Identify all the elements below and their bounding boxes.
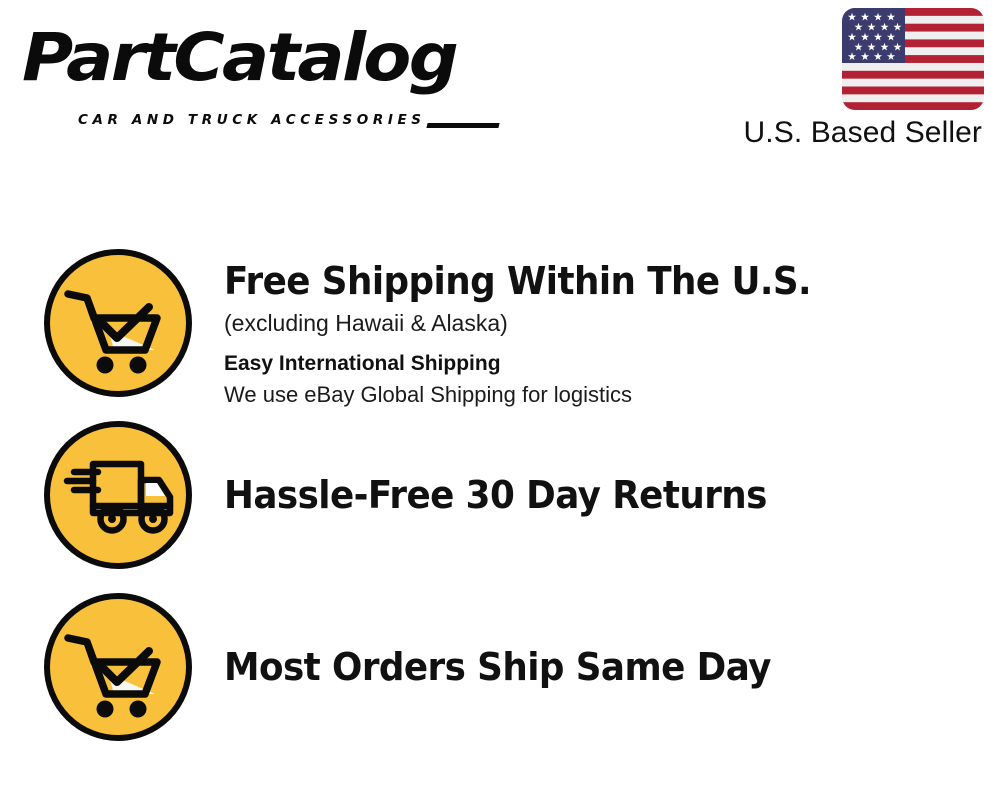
shopping-cart-check-icon (41, 590, 195, 744)
feature-row: Free Shipping Within The U.S. (excluding… (0, 246, 1000, 400)
brand-logo[interactable]: PartCatalog CAR AND TRUCK ACCESSORIES (22, 22, 492, 117)
page-header: PartCatalog CAR AND TRUCK ACCESSORIES (0, 0, 1000, 170)
brand-wordmark: PartCatalog (22, 22, 456, 94)
us-based-seller-label: U.S. Based Seller (716, 115, 984, 151)
feature-sub-light: We use eBay Global Shipping for logistic… (224, 380, 1000, 410)
feature-sub-strong: Easy International Shipping (224, 349, 1000, 379)
feature-text-block: Free Shipping Within The U.S. (excluding… (224, 246, 1000, 410)
feature-title: Most Orders Ship Same Day (224, 644, 953, 690)
brand-underline-accent (426, 123, 499, 128)
feature-title: Hassle-Free 30 Day Returns (224, 472, 953, 518)
feature-title: Free Shipping Within The U.S. (224, 258, 953, 304)
shopping-cart-check-icon (41, 246, 195, 400)
feature-subtitle: (excluding Hawaii & Alaska) (224, 306, 1000, 340)
us-based-seller-badge: U.S. Based Seller (716, 8, 984, 151)
brand-tagline: CAR AND TRUCK ACCESSORIES (78, 112, 426, 128)
feature-row: Hassle-Free 30 Day Returns (0, 418, 1000, 572)
feature-row: Most Orders Ship Same Day (0, 590, 1000, 744)
us-flag-icon (842, 8, 984, 110)
delivery-truck-icon (41, 418, 195, 572)
feature-text-block: Most Orders Ship Same Day (224, 644, 1000, 690)
feature-text-block: Hassle-Free 30 Day Returns (224, 472, 1000, 518)
